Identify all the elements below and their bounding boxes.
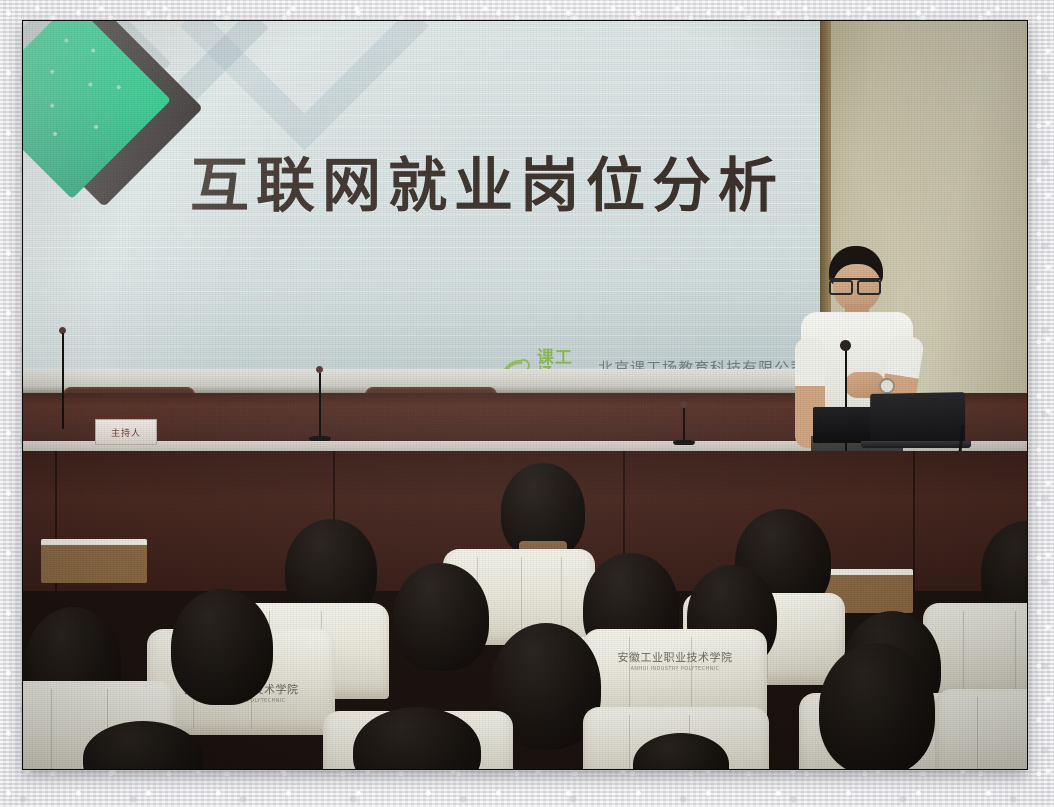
table-microphone <box>680 401 687 408</box>
laptop-base <box>861 441 971 448</box>
table-microphone-base <box>673 440 695 445</box>
placard-text: 主持人 <box>111 426 141 439</box>
tilted-tablet-icon <box>22 28 208 228</box>
table-microphone-stem <box>319 373 321 439</box>
panel-seam <box>913 451 915 591</box>
table-microphone <box>316 366 323 373</box>
wristwatch-icon <box>879 378 895 394</box>
audience-head <box>819 643 935 770</box>
glasses-icon <box>829 278 881 291</box>
projection-screen: 互联网就业岗位分析 课工场 kgc.cn 北京课工场教育科技有限公司 BEIJI… <box>22 20 820 369</box>
side-table <box>41 539 147 583</box>
audience-head <box>171 589 273 705</box>
chair-label-cn: 安徽工业职业技术学院 <box>583 649 767 665</box>
photo-page: 互联网就业岗位分析 课工场 kgc.cn 北京课工场教育科技有限公司 BEIJI… <box>0 0 1054 807</box>
chair-cover-label: 安徽工业职业技术学院 ANHUI INDUSTRY POLYTECHNIC <box>583 649 767 672</box>
laptop-lid <box>870 392 965 444</box>
name-placard: 主持人 <box>95 419 157 445</box>
table-microphone-stem <box>683 408 685 442</box>
laptop-secondary <box>813 407 875 443</box>
table-microphone-base <box>309 436 331 441</box>
audience-head <box>393 563 489 671</box>
slide-title: 互联网就业岗位分析 <box>190 138 810 223</box>
audience-chair-cover <box>935 689 1028 770</box>
chair-label-en: ANHUI INDUSTRY POLYTECHNIC <box>583 666 767 672</box>
handheld-microphone <box>840 340 851 351</box>
table-microphone-stem <box>62 333 64 429</box>
photograph: 互联网就业岗位分析 课工场 kgc.cn 北京课工场教育科技有限公司 BEIJI… <box>22 20 1028 770</box>
chevron-decor-icon <box>180 20 429 150</box>
handheld-microphone-stem <box>845 346 847 466</box>
